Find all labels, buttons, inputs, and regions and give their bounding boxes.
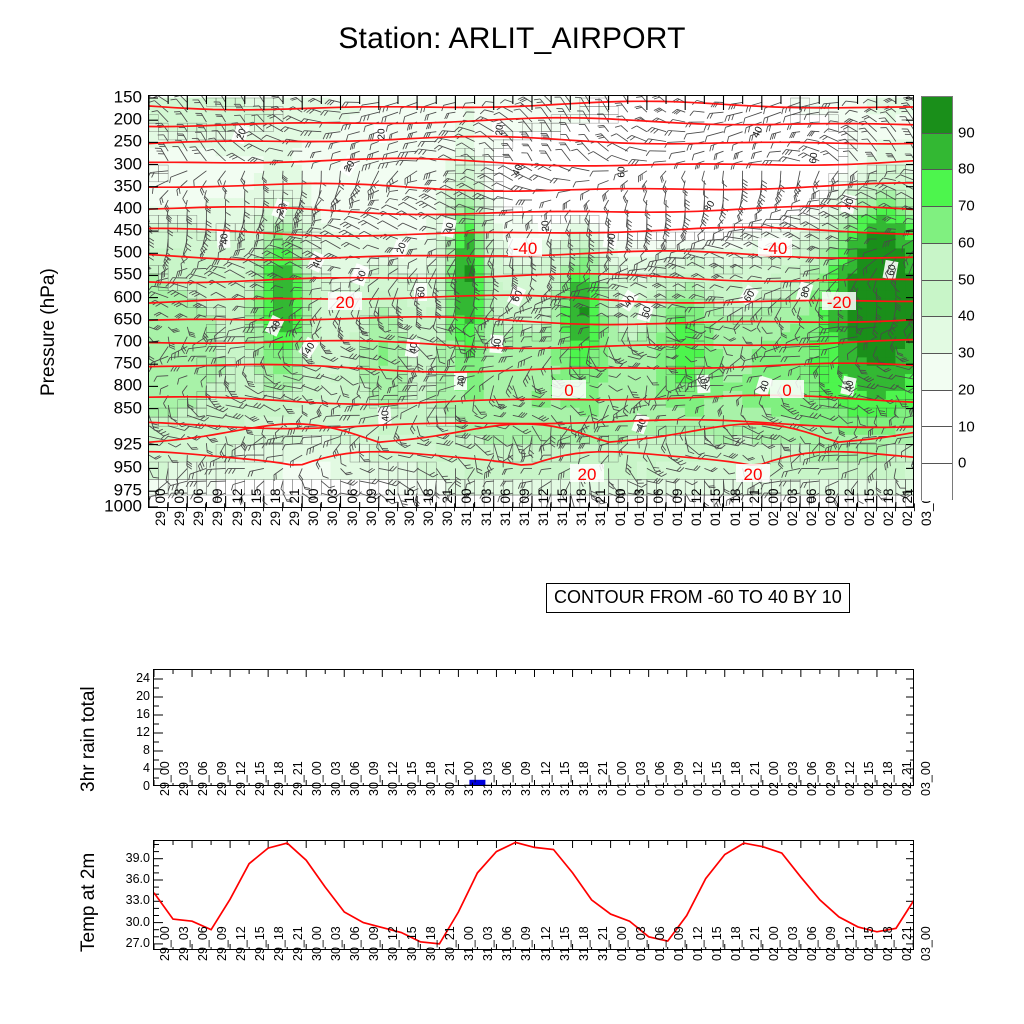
x-tick-label: 30_21: [440, 488, 455, 526]
x-tick-label: 01_03: [634, 926, 648, 961]
x-tick-label: 02_00: [767, 761, 781, 796]
x-tick-label: 30_03: [329, 926, 343, 961]
x-tick-label: 02_03: [786, 761, 800, 796]
figure-root: Station: ARLIT_AIRPORT Pressure (hPa) 15…: [0, 0, 1024, 1024]
x-tick-label: 30_09: [367, 926, 381, 961]
x-tick-label: 01_06: [653, 926, 667, 961]
rain-axis-title: 3hr rain total: [78, 686, 100, 792]
x-tick-label: 31_06: [500, 761, 514, 796]
x-tick-label: 31_00: [462, 926, 476, 961]
svg-text:20: 20: [578, 465, 597, 484]
x-tick-label: 30_06: [348, 926, 362, 961]
colorbar-tick-label: 0: [958, 455, 966, 472]
x-tick-label: 29_09: [210, 488, 225, 526]
x-tick-label: 31_15: [558, 761, 572, 796]
x-tick-label: 30_12: [386, 926, 400, 961]
sounding-contour-plot: 2020202020204040406040204060404060806040…: [149, 96, 914, 508]
x-tick-label: 31_00: [462, 761, 476, 796]
x-tick-label: 29_12: [230, 488, 245, 526]
rain-tick-labels: 04812162024: [108, 669, 150, 786]
x-tick-label: 02_21: [900, 926, 914, 961]
x-tick-label: 02_18: [881, 926, 895, 961]
colorbar-tick-label: 10: [958, 418, 975, 435]
pressure-tick-label: 200: [82, 111, 142, 128]
pressure-tick-label: 925: [82, 435, 142, 452]
x-tick-label: 31_21: [596, 926, 610, 961]
pressure-tick-label: 450: [82, 222, 142, 239]
x-tick-label: 02_21: [900, 761, 914, 796]
colorbar-cell: [922, 317, 952, 354]
temp-axis-title: Temp at 2m: [78, 853, 100, 952]
x-tick-label: 29_21: [287, 488, 302, 526]
svg-text:-40: -40: [513, 239, 538, 258]
x-tick-label: 02_15: [862, 926, 876, 961]
x-tick-label: 30_15: [405, 761, 419, 796]
x-tick-label: 31_12: [539, 926, 553, 961]
pressure-tick-label: 750: [82, 355, 142, 372]
x-tick-label: 01_21: [747, 488, 762, 526]
x-tick-label: 29_15: [253, 926, 267, 961]
x-tick-label: 29_21: [291, 926, 305, 961]
temp-tick-labels: 27.030.033.036.039.0: [100, 840, 150, 950]
x-tick-label: 29_15: [253, 761, 267, 796]
x-tick-label: 01_03: [634, 761, 648, 796]
svg-text:-20: -20: [827, 293, 852, 312]
colorbar-cell: [922, 354, 952, 391]
x-tick-label: 31_21: [596, 761, 610, 796]
x-tick-label: 02_18: [881, 488, 896, 526]
colorbar-cell: [922, 427, 952, 464]
svg-text:0: 0: [564, 381, 573, 400]
pressure-tick-label: 150: [82, 89, 142, 106]
x-tick-label: 30_03: [329, 761, 343, 796]
x-tick-label: 30_00: [306, 488, 321, 526]
x-tick-label: 29_03: [172, 488, 187, 526]
x-tick-label: 30_06: [345, 488, 360, 526]
pressure-tick-label: 550: [82, 266, 142, 283]
temp-tick-label: 39.0: [102, 851, 150, 865]
x-tick-label: 30_15: [405, 926, 419, 961]
x-tick-label: 01_18: [729, 926, 743, 961]
x-tick-label: 30_09: [367, 761, 381, 796]
temp-tick-label: 27.0: [102, 936, 150, 950]
x-tick-label: 29_00: [158, 926, 172, 961]
x-tick-label: 02_12: [843, 926, 857, 961]
x-tick-label: 29_18: [272, 926, 286, 961]
svg-text:20: 20: [377, 128, 388, 140]
x-tick-label: 01_18: [728, 488, 743, 526]
colorbar-tick-labels: 9080706050403020100: [958, 96, 1008, 500]
x-tick-label: 02_09: [824, 761, 838, 796]
x-tick-label: 02_12: [842, 488, 857, 526]
x-tick-label: 31_18: [577, 761, 591, 796]
x-tick-label: 30_12: [383, 488, 398, 526]
x-tick-label: 01_12: [689, 488, 704, 526]
x-tick-label: 31_15: [558, 926, 572, 961]
x-tick-label: 29_06: [196, 926, 210, 961]
svg-text:-40: -40: [763, 239, 788, 258]
x-tick-label: 01_06: [653, 761, 667, 796]
x-tick-label: 30_00: [310, 926, 324, 961]
x-tick-label: 29_12: [234, 761, 248, 796]
svg-text:60: 60: [417, 286, 428, 298]
x-tick-label: 01_09: [670, 488, 685, 526]
pressure-tick-label: 500: [82, 244, 142, 261]
x-tick-label: 02_00: [766, 488, 781, 526]
colorbar-cell: [922, 134, 952, 171]
colorbar-cell: [922, 244, 952, 281]
pressure-tick-labels: 1502002503003504004505005506006507007508…: [80, 95, 142, 508]
x-tick-label: 01_12: [691, 761, 705, 796]
colorbar-cell: [922, 170, 952, 207]
rain-tick-label: 8: [110, 743, 150, 757]
x-tick-label: 31_03: [481, 926, 495, 961]
x-tick-label: 02_06: [804, 488, 819, 526]
x-tick-label: 29_12: [234, 926, 248, 961]
temp-tick-label: 30.0: [102, 915, 150, 929]
x-tick-label: 31_06: [498, 488, 513, 526]
colorbar-tick-label: 50: [958, 271, 975, 288]
x-tick-label: 31_06: [500, 926, 514, 961]
x-tick-label: 30_18: [424, 761, 438, 796]
colorbar-cell: [922, 464, 952, 501]
x-tick-label: 30_21: [443, 761, 457, 796]
x-tick-label: 01_15: [710, 761, 724, 796]
x-tick-label: 01_12: [691, 926, 705, 961]
x-tick-label: 31_12: [536, 488, 551, 526]
rain-tick-label: 16: [110, 707, 150, 721]
humidity-colorbar: [921, 96, 953, 500]
svg-text:20: 20: [336, 293, 355, 312]
x-tick-label: 29_06: [191, 488, 206, 526]
x-tick-label: 31_00: [459, 488, 474, 526]
x-tick-label: 01_21: [748, 761, 762, 796]
x-tick-label: 01_15: [708, 488, 723, 526]
sounding-panel: 2020202020204040406040204060404060806040…: [148, 95, 914, 508]
x-tick-label: 01_09: [672, 926, 686, 961]
colorbar-tick-label: 40: [958, 308, 975, 325]
x-tick-label: 30_21: [443, 926, 457, 961]
x-tick-label: 29_18: [272, 761, 286, 796]
pressure-tick-label: 350: [82, 177, 142, 194]
x-tick-label: 02_03: [786, 926, 800, 961]
pressure-tick-label: 950: [82, 459, 142, 476]
pressure-tick-label: 850: [82, 399, 142, 416]
pressure-tick-label: 1000: [82, 498, 142, 515]
x-tick-label: 01_00: [613, 488, 628, 526]
x-tick-label: 30_03: [325, 488, 340, 526]
x-tick-label: 31_18: [577, 926, 591, 961]
x-tick-label: 03_00: [919, 761, 933, 796]
colorbar-tick-label: 20: [958, 381, 975, 398]
x-tick-label: 02_15: [862, 761, 876, 796]
x-tick-label: 30_00: [310, 761, 324, 796]
x-tick-label: 30_15: [402, 488, 417, 526]
rain-tick-label: 12: [110, 725, 150, 739]
x-tick-label: 02_03: [785, 488, 800, 526]
pressure-tick-label: 400: [82, 199, 142, 216]
x-tick-label: 02_09: [824, 926, 838, 961]
colorbar-tick-label: 60: [958, 234, 975, 251]
rain-tick-label: 20: [110, 689, 150, 703]
colorbar-tick-label: 90: [958, 124, 975, 141]
x-tick-label: 01_00: [615, 926, 629, 961]
x-tick-label: 01_03: [632, 488, 647, 526]
rain-bar-chart: [154, 670, 914, 786]
colorbar-cell: [922, 391, 952, 428]
x-tick-label: 30_09: [364, 488, 379, 526]
pressure-tick-label: 650: [82, 310, 142, 327]
x-tick-label: 29_03: [177, 761, 191, 796]
x-tick-label: 30_12: [386, 761, 400, 796]
x-tick-label: 31_15: [555, 488, 570, 526]
x-tick-label: 31_03: [481, 761, 495, 796]
colorbar-tick-label: 30: [958, 345, 975, 362]
rain-tick-label: 4: [110, 761, 150, 775]
x-tick-label: 29_21: [291, 761, 305, 796]
x-tick-label: 29_09: [215, 761, 229, 796]
main-x-tick-labels: 29_0029_0329_0629_0929_1229_1529_1829_21…: [148, 520, 914, 590]
sounding-frame: 2020202020204040406040204060404060806040…: [148, 95, 914, 508]
pressure-tick-label: 300: [82, 155, 142, 172]
x-tick-label: 29_18: [268, 488, 283, 526]
temp-tick-label: 36.0: [102, 872, 150, 886]
x-tick-label: 29_09: [215, 926, 229, 961]
temp-tick-label: 33.0: [102, 893, 150, 907]
temperature-line-chart: [154, 841, 914, 950]
colorbar-tick-label: 70: [958, 198, 975, 215]
x-tick-label: 02_09: [823, 488, 838, 526]
x-tick-label: 31_09: [519, 761, 533, 796]
x-tick-label: 01_00: [615, 761, 629, 796]
x-tick-label: 02_15: [862, 488, 877, 526]
svg-text:0: 0: [782, 381, 791, 400]
x-tick-label: 02_06: [805, 761, 819, 796]
x-tick-label: 01_06: [651, 488, 666, 526]
x-tick-label: 30_18: [421, 488, 436, 526]
x-tick-label: 29_00: [158, 761, 172, 796]
x-tick-label: 02_00: [767, 926, 781, 961]
colorbar-cell: [922, 281, 952, 318]
colorbar-tick-label: 80: [958, 161, 975, 178]
x-tick-label: 29_15: [249, 488, 264, 526]
x-tick-label: 31_18: [574, 488, 589, 526]
pressure-tick-label: 800: [82, 377, 142, 394]
x-tick-label: 30_06: [348, 761, 362, 796]
x-tick-label: 31_09: [517, 488, 532, 526]
x-tick-label: 29_00: [153, 488, 168, 526]
x-tick-label: 02_18: [881, 761, 895, 796]
colorbar-cell: [922, 207, 952, 244]
pressure-tick-label: 250: [82, 133, 142, 150]
page-title: Station: ARLIT_AIRPORT: [0, 22, 1024, 56]
svg-text:20: 20: [744, 465, 763, 484]
temp-x-tick-labels: 29_0029_0329_0629_0929_1229_1529_1829_21…: [153, 955, 914, 1015]
colorbar-cell: [922, 97, 952, 134]
pressure-tick-label: 600: [82, 288, 142, 305]
x-tick-label: 02_06: [805, 926, 819, 961]
x-tick-label: 30_18: [424, 926, 438, 961]
rain-tick-label: 24: [110, 671, 150, 685]
pressure-tick-label: 700: [82, 333, 142, 350]
x-tick-label: 31_21: [593, 488, 608, 526]
x-tick-label: 01_15: [710, 926, 724, 961]
x-tick-label: 29_03: [177, 926, 191, 961]
x-tick-label: 01_21: [748, 926, 762, 961]
x-tick-label: 31_09: [519, 926, 533, 961]
x-tick-label: 01_09: [672, 761, 686, 796]
pressure-axis-title: Pressure (hPa): [38, 268, 60, 396]
x-tick-label: 02_21: [900, 488, 915, 526]
x-tick-label: 29_06: [196, 761, 210, 796]
contour-note: CONTOUR FROM -60 TO 40 BY 10: [546, 583, 850, 613]
x-tick-label: 03_00: [919, 926, 933, 961]
x-tick-label: 31_12: [539, 761, 553, 796]
x-tick-label: 01_18: [729, 761, 743, 796]
x-tick-label: 02_12: [843, 761, 857, 796]
x-tick-label: 31_03: [479, 488, 494, 526]
rain-tick-label: 0: [110, 779, 150, 793]
